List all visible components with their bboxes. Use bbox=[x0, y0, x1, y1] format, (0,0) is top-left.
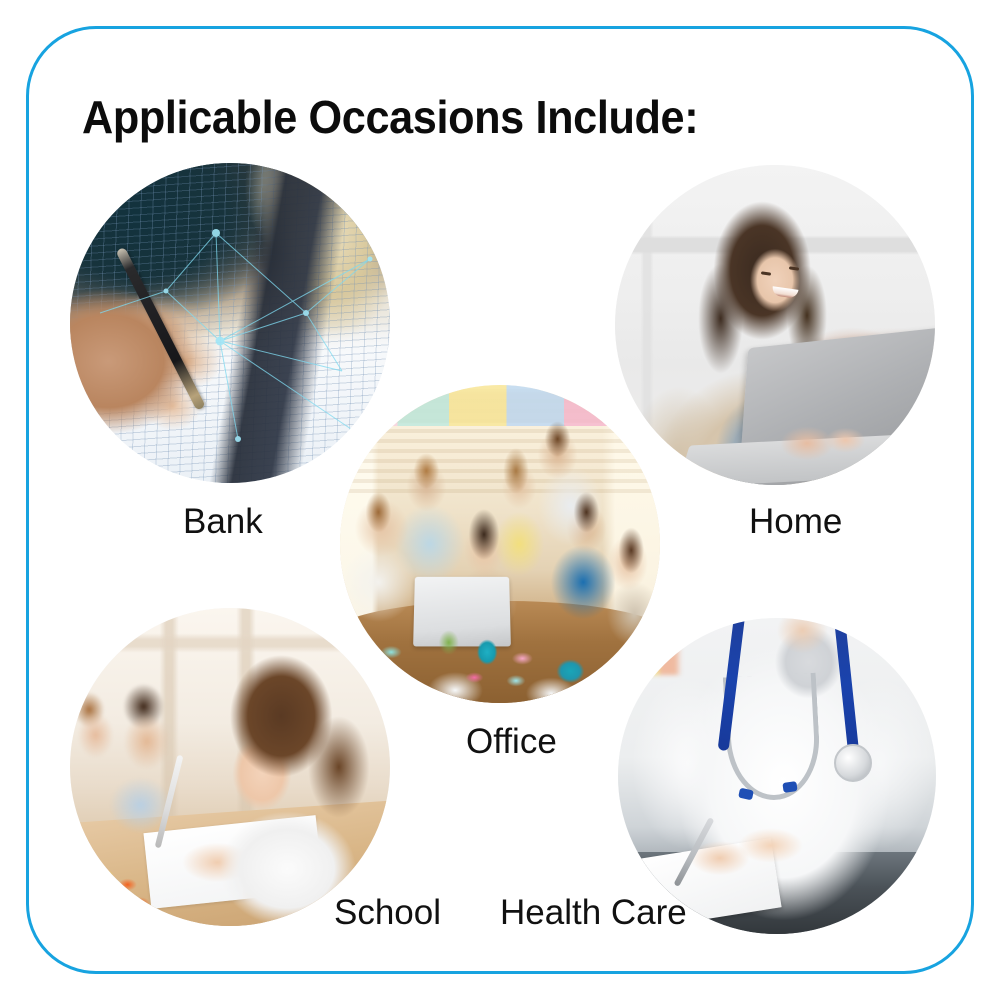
home-photo bbox=[615, 165, 935, 485]
caption-school: School bbox=[334, 893, 441, 933]
occasion-tile-school bbox=[70, 608, 390, 926]
home-woman-hands bbox=[615, 165, 935, 485]
caption-home: Home bbox=[749, 502, 842, 542]
health-doctor-hands bbox=[618, 618, 936, 934]
school-foam-letters bbox=[70, 608, 390, 926]
occasion-tile-health-care bbox=[618, 618, 936, 934]
caption-health-care: Health Care bbox=[500, 893, 687, 933]
school-photo bbox=[70, 608, 390, 926]
page-title: Applicable Occasions Include: bbox=[82, 90, 698, 144]
caption-bank: Bank bbox=[183, 502, 263, 542]
caption-office: Office bbox=[466, 722, 557, 762]
health-care-photo bbox=[618, 618, 936, 934]
occasion-tile-home bbox=[615, 165, 935, 485]
product-infographic-canvas: Applicable Occasions Include: bbox=[0, 0, 1000, 1000]
